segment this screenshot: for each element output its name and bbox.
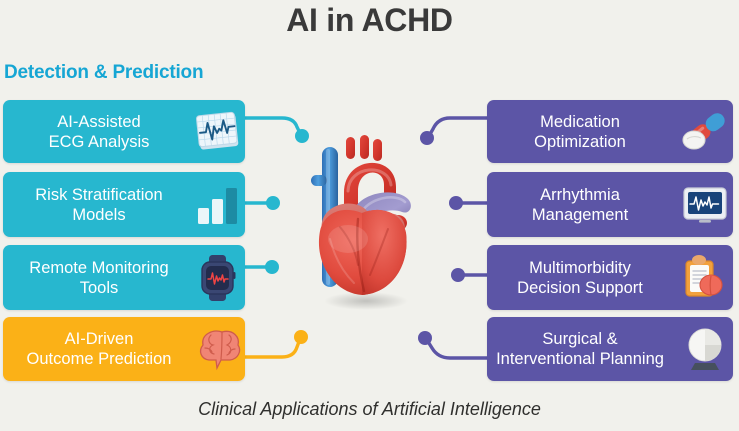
card-ai-assisted-ecg-analysis[interactable]: AI-Assisted ECG Analysis bbox=[3, 100, 245, 163]
connector-dot-left-3 bbox=[265, 260, 279, 274]
card-label: AI-Assisted ECG Analysis bbox=[3, 112, 189, 152]
infographic-canvas: AI in ACHD Detection & Prediction bbox=[0, 0, 739, 431]
clipboard-organ-icon bbox=[677, 254, 733, 302]
card-multimorbidity-decision-support[interactable]: Multimorbidity Decision Support bbox=[487, 245, 733, 310]
brain-icon bbox=[189, 325, 245, 373]
card-medication-optimization[interactable]: Medication Optimization bbox=[487, 100, 733, 163]
connector-dot-right-4 bbox=[418, 331, 432, 345]
card-surgical-interventional-planning[interactable]: Surgical & Interventional Planning bbox=[487, 317, 733, 381]
ecg-chart-icon bbox=[189, 108, 245, 156]
card-label: Multimorbidity Decision Support bbox=[487, 258, 677, 298]
connector-dot-left-2 bbox=[266, 196, 280, 210]
section-heading-detection-prediction: Detection & Prediction bbox=[4, 62, 203, 84]
footer-caption: Clinical Applications of Artificial Inte… bbox=[0, 399, 739, 420]
card-label: Surgical & Interventional Planning bbox=[487, 329, 677, 369]
bar-chart-icon bbox=[189, 181, 245, 229]
page-title: AI in ACHD bbox=[0, 2, 739, 39]
connector-dot-left-4 bbox=[294, 330, 308, 344]
card-label: AI-Driven Outcome Prediction bbox=[3, 329, 189, 369]
card-remote-monitoring-tools[interactable]: Remote Monitoring Tools bbox=[3, 245, 245, 310]
card-label: Remote Monitoring Tools bbox=[3, 258, 189, 298]
card-label: Risk Stratification Models bbox=[3, 185, 189, 225]
card-arrhythmia-management[interactable]: Arrhythmia Management bbox=[487, 172, 733, 237]
heart-illustration bbox=[300, 135, 425, 310]
pill-capsule-icon bbox=[677, 108, 733, 156]
smartwatch-icon bbox=[189, 254, 245, 302]
connector-dot-right-3 bbox=[451, 268, 465, 282]
connector-dot-right-2 bbox=[449, 196, 463, 210]
card-risk-stratification-models[interactable]: Risk Stratification Models bbox=[3, 172, 245, 237]
ecg-monitor-icon bbox=[677, 181, 733, 229]
surgical-lamp-icon bbox=[677, 325, 733, 373]
card-ai-driven-outcome-prediction[interactable]: AI-Driven Outcome Prediction bbox=[3, 317, 245, 381]
card-label: Arrhythmia Management bbox=[487, 185, 677, 225]
card-label: Medication Optimization bbox=[487, 112, 677, 152]
